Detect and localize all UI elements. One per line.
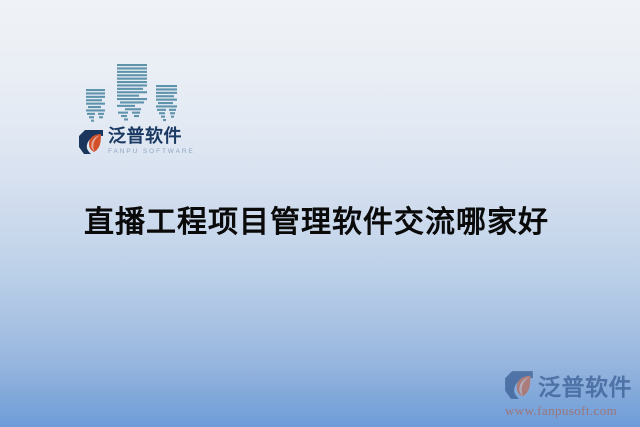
brand-name-en: FANPU SOFTWARE [108,149,195,156]
brand-block: 泛普软件 FANPU SOFTWARE [78,58,198,170]
watermark-name-cn: 泛普软件 [538,368,632,402]
fanpu-logo-icon [78,129,104,155]
city-skyline-icon [84,58,180,126]
watermark-logo-row: 泛普软件 [504,368,632,402]
brand-name-cn: 泛普软件 [108,128,195,146]
fanpu-watermark-logo-icon [504,370,534,400]
watermark-url: www.fanpusoft.com [505,403,617,419]
brand-wordmark: 泛普软件 FANPU SOFTWARE [108,128,195,156]
watermark: 泛普软件 www.fanpusoft.com [504,368,632,419]
headline-title: 直播工程项目管理软件交流哪家好 [84,203,584,242]
poster-canvas: 泛普软件 FANPU SOFTWARE 直播工程项目管理软件交流哪家好 泛普软件… [0,0,640,427]
brand-logo-lockup: 泛普软件 FANPU SOFTWARE [78,128,195,156]
